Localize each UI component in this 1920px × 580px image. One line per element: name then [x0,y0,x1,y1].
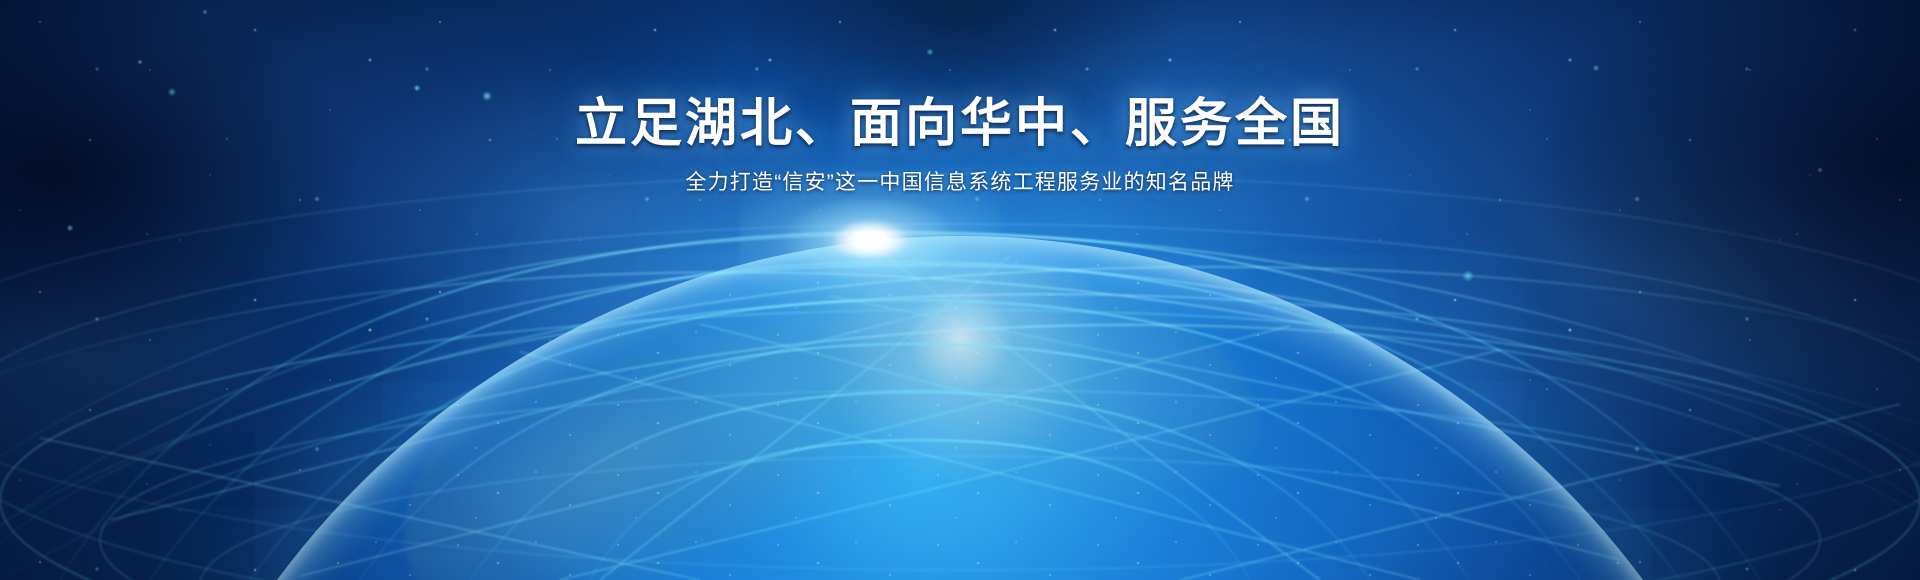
hero-headline: 立足湖北、面向华中、服务全国 [0,96,1920,153]
hero-subtitle: 全力打造“信安”这一中国信息系统工程服务业的知名品牌 [0,169,1920,196]
hero-text-block: 立足湖北、面向华中、服务全国 全力打造“信安”这一中国信息系统工程服务业的知名品… [0,96,1920,196]
hero-banner: 立足湖北、面向华中、服务全国 全力打造“信安”这一中国信息系统工程服务业的知名品… [0,0,1920,580]
